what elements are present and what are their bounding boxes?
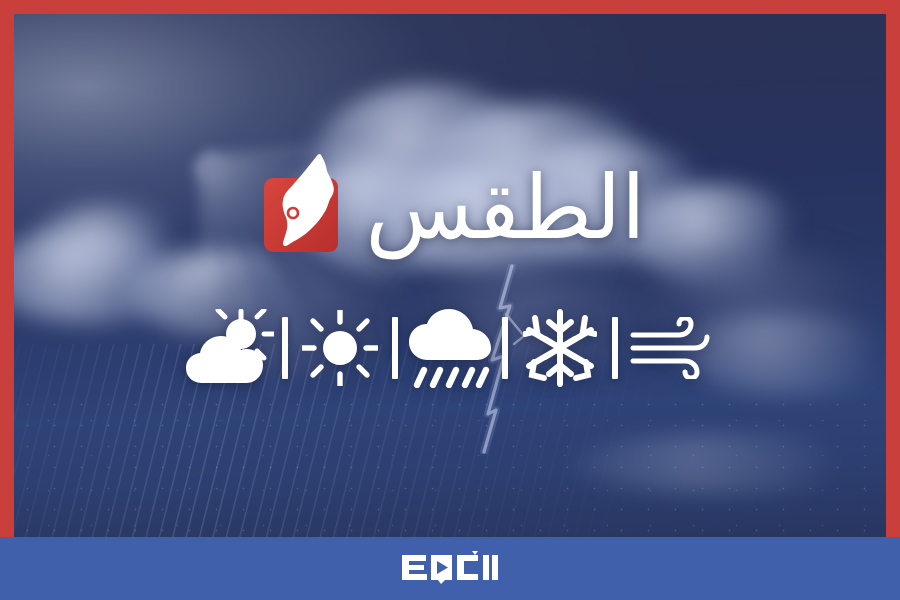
title-row: الطقس — [0, 152, 900, 264]
weather-icon-snow[interactable] — [508, 306, 612, 390]
weather-icon-wind[interactable] — [618, 306, 722, 390]
weather-banner: الطقس — [0, 0, 900, 600]
banner-content: الطقس — [0, 0, 900, 600]
brand-wordmark[interactable] — [400, 550, 500, 588]
weather-icon-rain[interactable] — [398, 306, 502, 390]
footer-bar — [0, 537, 900, 600]
page-title: الطقس — [365, 162, 645, 254]
weather-icon-partly-cloudy[interactable] — [178, 306, 282, 390]
weather-icon-sunny[interactable] — [288, 306, 392, 390]
lebanon-map-logo — [254, 152, 349, 264]
weather-icon-row — [0, 306, 900, 390]
